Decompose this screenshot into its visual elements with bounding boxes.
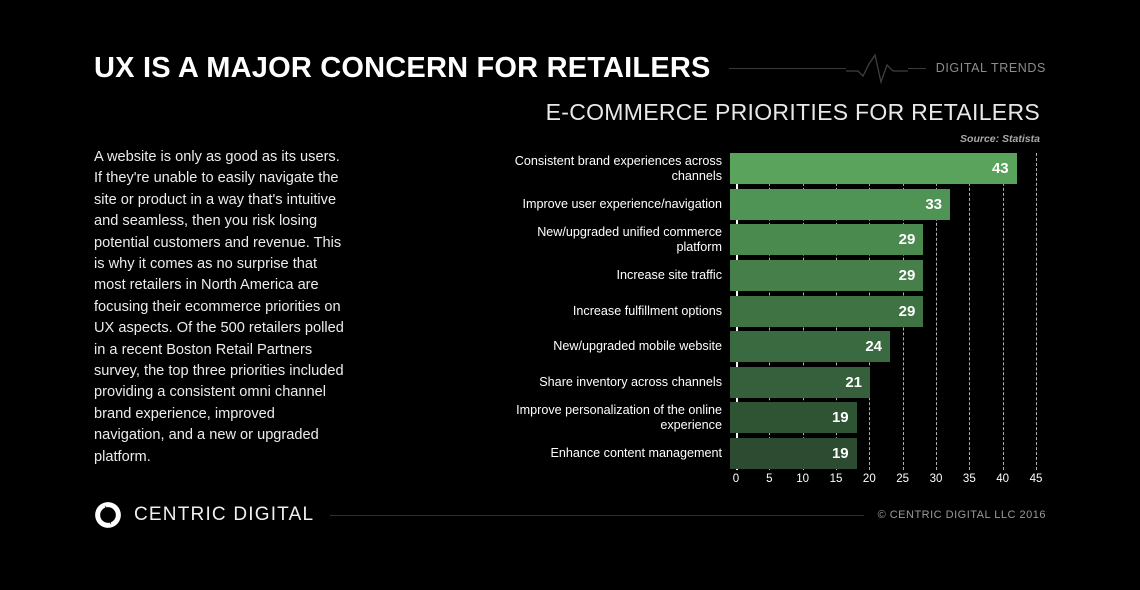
pulse-icon [846, 51, 908, 85]
logo-text: CENTRIC DIGITAL [134, 504, 314, 526]
bar-track: 43 [730, 153, 1030, 184]
bar-rows: Consistent brand experiences across chan… [490, 153, 1036, 473]
page-title: UX IS A MAJOR CONCERN FOR RETAILERS [94, 54, 711, 83]
bar-track: 24 [730, 331, 1030, 362]
bar[interactable]: 43 [730, 153, 1017, 184]
footer-divider [330, 515, 863, 516]
chart-title: E-COMMERCE PRIORITIES FOR RETAILERS [490, 100, 1050, 124]
bar[interactable]: 21 [730, 367, 870, 398]
infographic-canvas: UX IS A MAJOR CONCERN FOR RETAILERS DIGI… [0, 0, 1140, 590]
bar-value-label: 19 [832, 446, 849, 461]
gridline-45 [1036, 153, 1037, 470]
bar-value-label: 29 [899, 304, 916, 319]
bar-row: Consistent brand experiences across chan… [490, 153, 1036, 184]
bar-track: 29 [730, 224, 1030, 255]
bar[interactable]: 24 [730, 331, 890, 362]
x-tick-40: 40 [996, 473, 1009, 485]
bar-track: 19 [730, 402, 1030, 433]
x-tick-20: 20 [863, 473, 876, 485]
bar-chart: Consistent brand experiences across chan… [490, 153, 1050, 483]
chart-source: Source: Statista [490, 133, 1050, 145]
bar[interactable]: 19 [730, 438, 857, 469]
copyright-text: © CENTRIC DIGITAL LLC 2016 [878, 509, 1046, 521]
article-body: A website is only as good as its users. … [94, 147, 348, 468]
bar-category-label: New/upgraded unified commerce platform [490, 225, 730, 255]
x-tick-30: 30 [930, 473, 943, 485]
bar-category-label: Enhance content management [490, 446, 730, 461]
bar[interactable]: 33 [730, 189, 950, 220]
footer: CENTRIC DIGITAL © CENTRIC DIGITAL LLC 20… [94, 500, 1046, 530]
x-tick-45: 45 [1030, 473, 1043, 485]
bar-row: Improve user experience/navigation33 [490, 189, 1036, 220]
bar-value-label: 29 [899, 232, 916, 247]
bar-value-label: 29 [899, 268, 916, 283]
bar[interactable]: 29 [730, 260, 923, 291]
bar-track: 33 [730, 189, 1030, 220]
bar-row: Increase fulfillment options29 [490, 296, 1036, 327]
bar-category-label: Consistent brand experiences across chan… [490, 154, 730, 184]
centric-digital-logo-icon [94, 501, 122, 529]
bar-value-label: 24 [865, 339, 882, 354]
brand-label: DIGITAL TRENDS [936, 61, 1046, 75]
bar-category-label: Share inventory across channels [490, 375, 730, 390]
x-tick-10: 10 [796, 473, 809, 485]
bar-row: Enhance content management19 [490, 438, 1036, 469]
bar-category-label: Increase fulfillment options [490, 304, 730, 319]
x-tick-25: 25 [896, 473, 909, 485]
x-tick-5: 5 [766, 473, 772, 485]
bar[interactable]: 29 [730, 224, 923, 255]
chart-panel: E-COMMERCE PRIORITIES FOR RETAILERS Sour… [490, 100, 1050, 483]
bar-row: New/upgraded mobile website24 [490, 331, 1036, 362]
bar-value-label: 21 [845, 375, 862, 390]
bar-category-label: Increase site traffic [490, 268, 730, 283]
bar-row: Improve personalization of the online ex… [490, 402, 1036, 433]
bar-row: Share inventory across channels21 [490, 367, 1036, 398]
bar-row: Increase site traffic29 [490, 260, 1036, 291]
header: UX IS A MAJOR CONCERN FOR RETAILERS DIGI… [94, 46, 1046, 90]
header-divider-right [908, 68, 926, 69]
bar-category-label: New/upgraded mobile website [490, 339, 730, 354]
x-tick-35: 35 [963, 473, 976, 485]
bar-track: 29 [730, 260, 1030, 291]
x-axis-ticks: 051015202530354045 [736, 473, 1036, 489]
header-divider-left [729, 68, 846, 69]
bar-value-label: 33 [925, 197, 942, 212]
bar-track: 19 [730, 438, 1030, 469]
bar[interactable]: 29 [730, 296, 923, 327]
bar-value-label: 19 [832, 410, 849, 425]
bar-category-label: Improve personalization of the online ex… [490, 403, 730, 433]
bar-category-label: Improve user experience/navigation [490, 197, 730, 212]
bar[interactable]: 19 [730, 402, 857, 433]
bar-track: 29 [730, 296, 1030, 327]
x-tick-15: 15 [830, 473, 843, 485]
bar-track: 21 [730, 367, 1030, 398]
x-tick-0: 0 [733, 473, 739, 485]
bar-value-label: 43 [992, 161, 1009, 176]
bar-row: New/upgraded unified commerce platform29 [490, 224, 1036, 255]
